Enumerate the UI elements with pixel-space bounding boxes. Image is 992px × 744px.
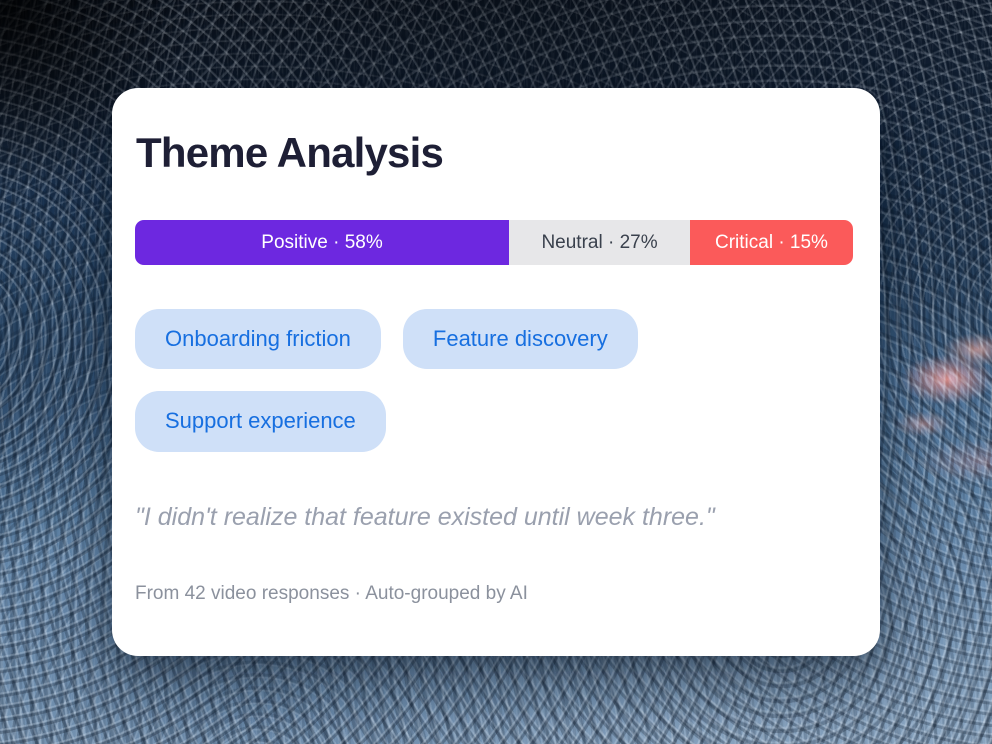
sentiment-segment-neutral[interactable]: Neutral · 27% (509, 220, 690, 265)
theme-chip-list: Onboarding friction Feature discovery Su… (135, 309, 855, 451)
card-footer-meta: From 42 video responses · Auto-grouped b… (135, 583, 880, 606)
theme-chip-support-experience[interactable]: Support experience (135, 391, 386, 451)
sentiment-segment-positive[interactable]: Positive · 58% (135, 220, 509, 265)
sentiment-segment-critical[interactable]: Critical · 15% (690, 220, 853, 265)
page-title: Theme Analysis (136, 128, 880, 176)
sentiment-distribution-bar: Positive · 58% Neutral · 27% Critical · … (135, 220, 853, 265)
representative-quote: "I didn't realize that feature existed u… (135, 502, 851, 533)
theme-chip-feature-discovery[interactable]: Feature discovery (403, 309, 638, 369)
theme-chip-onboarding-friction[interactable]: Onboarding friction (135, 309, 381, 369)
theme-analysis-card: Theme Analysis Positive · 58% Neutral · … (112, 88, 880, 656)
